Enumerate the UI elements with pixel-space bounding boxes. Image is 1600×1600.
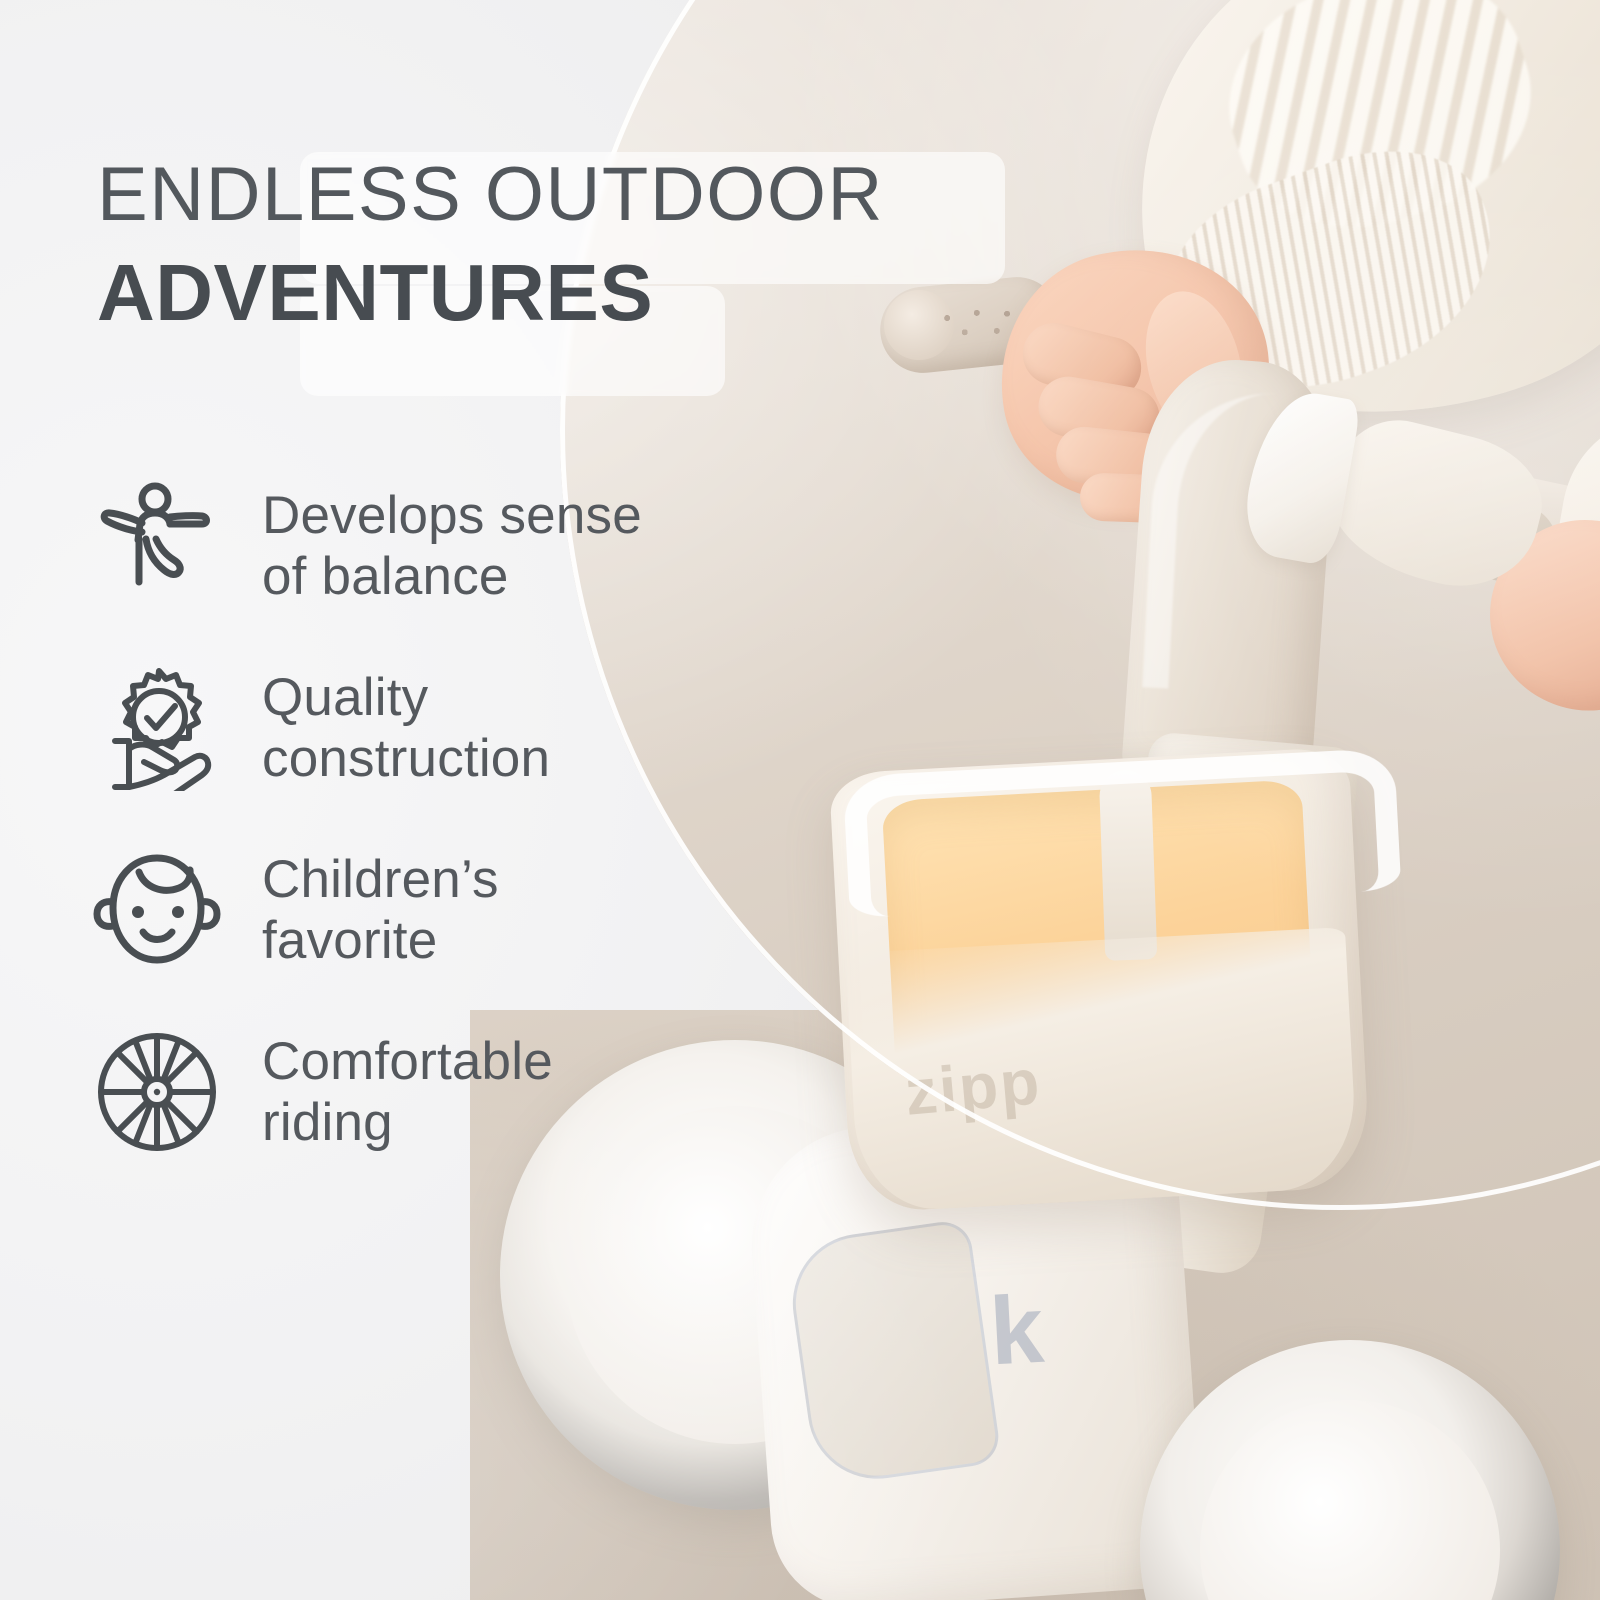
brand-logo-k: k bbox=[987, 1275, 1046, 1388]
infographic-canvas: k zipp bbox=[0, 0, 1600, 1600]
headline-line-2: ADVENTURES bbox=[97, 254, 1037, 332]
feature-label: Quality construction bbox=[262, 667, 550, 790]
brand-text-zipp: zipp bbox=[902, 1044, 1044, 1130]
feature-list: Develops sense of balance Quality constr… bbox=[92, 455, 752, 1183]
baby-face-icon bbox=[92, 845, 222, 975]
page-title: ENDLESS OUTDOOR ADVENTURES bbox=[97, 158, 1037, 333]
feature-item-comfortable-riding: Comfortable riding bbox=[92, 1001, 752, 1183]
feature-item-children-favorite: Children’s favorite bbox=[92, 819, 752, 1001]
spoked-wheel-icon bbox=[92, 1027, 222, 1157]
feature-item-quality: Quality construction bbox=[92, 637, 752, 819]
balance-person-icon bbox=[92, 481, 222, 611]
headline-line-1: ENDLESS OUTDOOR bbox=[97, 158, 1037, 232]
quality-badge-hand-icon bbox=[92, 663, 222, 793]
feature-label: Develops sense of balance bbox=[262, 485, 642, 608]
feature-item-balance: Develops sense of balance bbox=[92, 455, 752, 637]
feature-label: Comfortable riding bbox=[262, 1031, 553, 1154]
basket-rim bbox=[843, 748, 1402, 919]
feature-label: Children’s favorite bbox=[262, 849, 499, 972]
